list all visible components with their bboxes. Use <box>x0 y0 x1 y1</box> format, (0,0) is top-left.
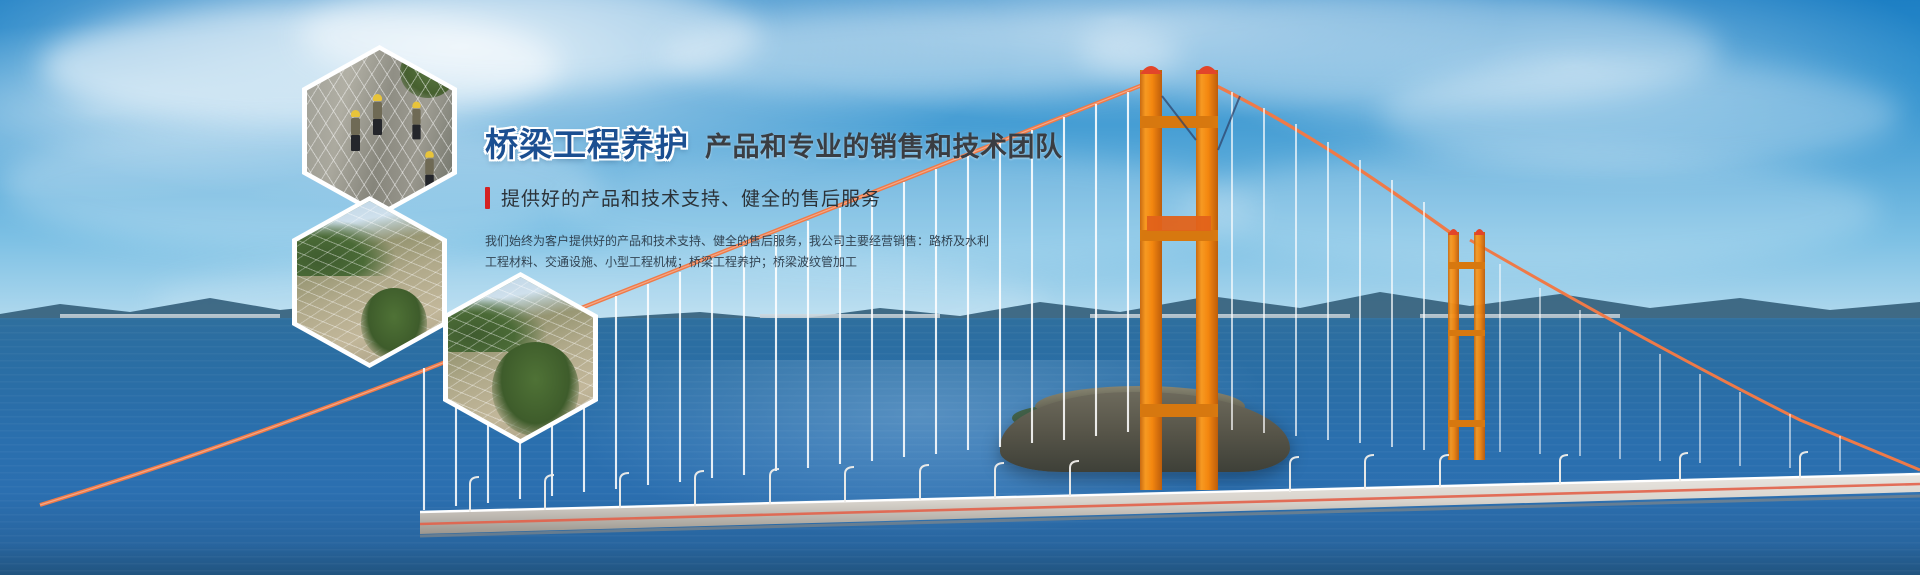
photo-slope <box>448 277 593 439</box>
banner-title-main: 桥梁工程养护 <box>485 118 689 166</box>
accent-bar-icon <box>485 187 490 209</box>
photo-worker <box>412 102 420 140</box>
hex-photo-inner <box>297 201 442 363</box>
banner-description-line: 工程材料、交通设施、小型工程机械；桥梁工程养护；桥梁波纹管加工 <box>485 252 1185 273</box>
hex-photo-inner <box>448 277 593 439</box>
banner-copy: 桥梁工程养护 产品和专业的销售和技术团队 提供好的产品和技术支持、健全的售后服务… <box>485 118 1185 273</box>
photo-slope <box>297 201 442 363</box>
banner-description: 我们始终为客户提供好的产品和技术支持、健全的售后服务，我公司主要经营销售：路桥及… <box>485 231 1185 273</box>
photo-worker <box>351 110 360 151</box>
hex-photo-inner <box>307 50 452 212</box>
photo-worker <box>373 94 382 135</box>
hero-banner: 桥梁工程养护 产品和专业的销售和技术团队 提供好的产品和技术支持、健全的售后服务… <box>0 0 1920 575</box>
photo-worker <box>425 151 434 190</box>
photo-rock-face <box>307 50 452 212</box>
cloud <box>1180 150 1880 270</box>
banner-title-sub: 产品和专业的销售和技术团队 <box>705 125 1063 164</box>
banner-title-row: 桥梁工程养护 产品和专业的销售和技术团队 <box>485 118 1185 166</box>
banner-tagline-row: 提供好的产品和技术支持、健全的售后服务 <box>485 184 1185 211</box>
banner-description-line: 我们始终为客户提供好的产品和技术支持、健全的售后服务，我公司主要经营销售：路桥及… <box>485 231 1185 252</box>
banner-tagline: 提供好的产品和技术支持、健全的售后服务 <box>501 184 881 211</box>
